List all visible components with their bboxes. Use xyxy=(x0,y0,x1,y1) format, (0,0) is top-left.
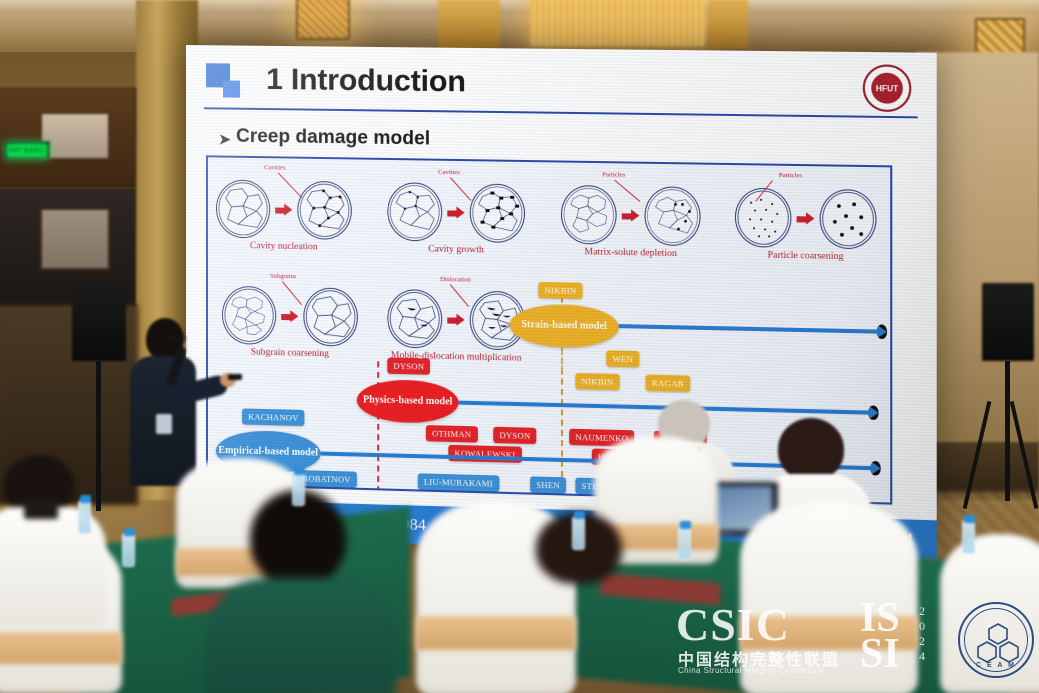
door-glass-panel xyxy=(40,208,110,270)
grain-structure-cavities-icon xyxy=(297,181,352,240)
micrograph-caption: Cavity growth xyxy=(387,244,525,257)
water-bottle[interactable] xyxy=(78,500,91,534)
micrograph-annotation: Cavities xyxy=(264,164,285,171)
bottle-cap xyxy=(680,521,691,529)
era-divider-red xyxy=(377,361,379,492)
author-pill-wen: WEN xyxy=(606,350,639,367)
title-underline-rule xyxy=(204,107,918,118)
model-label: Physics-based model xyxy=(363,395,452,409)
micrograph-annotation: Cavities xyxy=(438,169,460,176)
bottle-cap xyxy=(574,511,585,519)
speaker-stand-right xyxy=(1005,361,1010,501)
transition-arrow-icon xyxy=(622,209,640,223)
hefei-university-of-technology-logo: HFUT xyxy=(863,64,912,112)
water-bottle[interactable] xyxy=(572,516,585,550)
micrograph-matrix-solute-depletion: Matrix-solute depletion xyxy=(561,185,701,260)
author-pill-dyson-2: DYSON xyxy=(493,427,536,444)
author-pill-shen: SHEN xyxy=(530,476,566,493)
micrograph-subgrain-coarsening: Subgrain coarsening xyxy=(222,286,358,360)
micrograph-cavity-growth: Cavity growth xyxy=(387,182,525,256)
water-bottle[interactable] xyxy=(122,533,135,567)
micrograph-caption: Particle coarsening xyxy=(735,250,877,263)
grain-structure-dense-icon xyxy=(561,185,617,245)
shirt-logo-patch xyxy=(24,499,58,519)
transition-arrow-icon xyxy=(281,309,298,322)
model-ellipse-physics-based: Physics-based model xyxy=(357,379,459,424)
model-ellipse-strain-based: Strain-based model xyxy=(510,304,619,349)
chandelier-crystal-bank xyxy=(530,0,705,46)
gold-wall-panel xyxy=(438,0,500,48)
author-pill-robatnov: ROBATNOV xyxy=(296,470,356,488)
micrograph-mobile-dislocation-multiplication: Mobile-dislocation multiplication xyxy=(387,289,525,364)
model-label: Strain-based model xyxy=(521,319,606,332)
transition-arrow-icon xyxy=(447,206,464,219)
speaker-stand-left xyxy=(96,361,101,511)
axis-arrowhead xyxy=(870,461,881,476)
chair-cover-6 xyxy=(940,534,1039,693)
axis-arrowhead xyxy=(876,324,887,339)
bottle-cap xyxy=(294,467,305,475)
author-pill-nikbin-2: NIKBIN xyxy=(575,373,619,390)
grain-structure-icon xyxy=(216,179,270,238)
subgrain-coarse-icon xyxy=(303,287,358,346)
subgrain-fine-icon xyxy=(222,286,276,345)
bottle-cap xyxy=(964,515,975,523)
micrograph-caption: Matrix-solute depletion xyxy=(561,247,701,260)
bottle-cap xyxy=(80,495,91,503)
audience-head xyxy=(778,418,844,480)
exit-sign-label: EXIT 安全出口 xyxy=(7,144,47,157)
exit-sign: EXIT 安全出口 xyxy=(4,141,50,159)
chair-cover-5 xyxy=(740,500,918,693)
gold-wall-panel-right xyxy=(708,0,748,48)
drum-lamp-ceiling xyxy=(296,0,350,40)
grain-structure-depleted-icon xyxy=(645,186,701,246)
author-pill-liu-murakami: LIU-MURAKAMI xyxy=(418,473,499,491)
particles-coarse-icon xyxy=(820,189,877,249)
presenter-glasses-icon xyxy=(168,336,186,341)
micrograph-caption: Cavity nucleation xyxy=(216,241,352,254)
micrograph-annotation: Particles xyxy=(602,171,625,178)
author-pill-kachanov: KACHANOV xyxy=(242,408,305,426)
pa-speaker-right xyxy=(982,283,1034,361)
transition-arrow-icon xyxy=(275,203,292,216)
conference-room-photo: EXIT 安全出口 1 Introduction ➤ Creep damage … xyxy=(0,0,1039,693)
chair-sash-3 xyxy=(416,616,576,650)
transition-arrow-icon xyxy=(797,212,815,226)
transition-arrow-icon xyxy=(447,313,464,327)
micrograph-cavity-nucleation: Cavity nucleation xyxy=(216,179,352,253)
slide-title: 1 Introduction xyxy=(266,63,466,100)
axis-arrowhead xyxy=(868,405,879,420)
university-logo-text: HFUT xyxy=(871,73,903,104)
micrograph-annotation: Particles xyxy=(779,172,802,180)
water-bottle[interactable] xyxy=(678,526,691,560)
bottle-cap xyxy=(124,528,135,536)
particles-fine-icon xyxy=(735,188,791,248)
chevron-right-arrow-icon: ➤ xyxy=(218,129,231,149)
micrograph-annotation: Dislocation xyxy=(440,276,471,284)
micrograph-annotation: Subgrains xyxy=(270,273,296,281)
audience-torso xyxy=(206,578,396,693)
pa-speaker-left xyxy=(72,281,126,361)
timeline-axis-strain xyxy=(619,324,878,334)
water-bottle[interactable] xyxy=(962,520,975,554)
laser-pointer-icon[interactable] xyxy=(228,374,242,380)
author-pill-nikbin-top: NIKBIN xyxy=(538,282,582,299)
title-decoration-square-small xyxy=(223,80,240,97)
slide-subtitle: Creep damage model xyxy=(236,126,430,151)
chair-sash-5 xyxy=(740,616,918,650)
chair-sash-1 xyxy=(0,632,122,664)
presenter-lanyard-badge xyxy=(156,414,172,434)
dislocation-low-icon xyxy=(387,289,442,349)
grain-structure-icon xyxy=(387,182,442,241)
author-pill-ragab: RAGAB xyxy=(646,375,690,392)
grain-structure-grown-cavities-icon xyxy=(470,183,525,243)
author-pill-othman: OTHMAN xyxy=(426,425,478,442)
author-pill-dyson-top: DYSON xyxy=(387,358,430,375)
wood-panel-inset xyxy=(40,112,110,160)
micrograph-caption: Subgrain coarsening xyxy=(222,347,358,360)
water-bottle[interactable] xyxy=(292,472,305,506)
